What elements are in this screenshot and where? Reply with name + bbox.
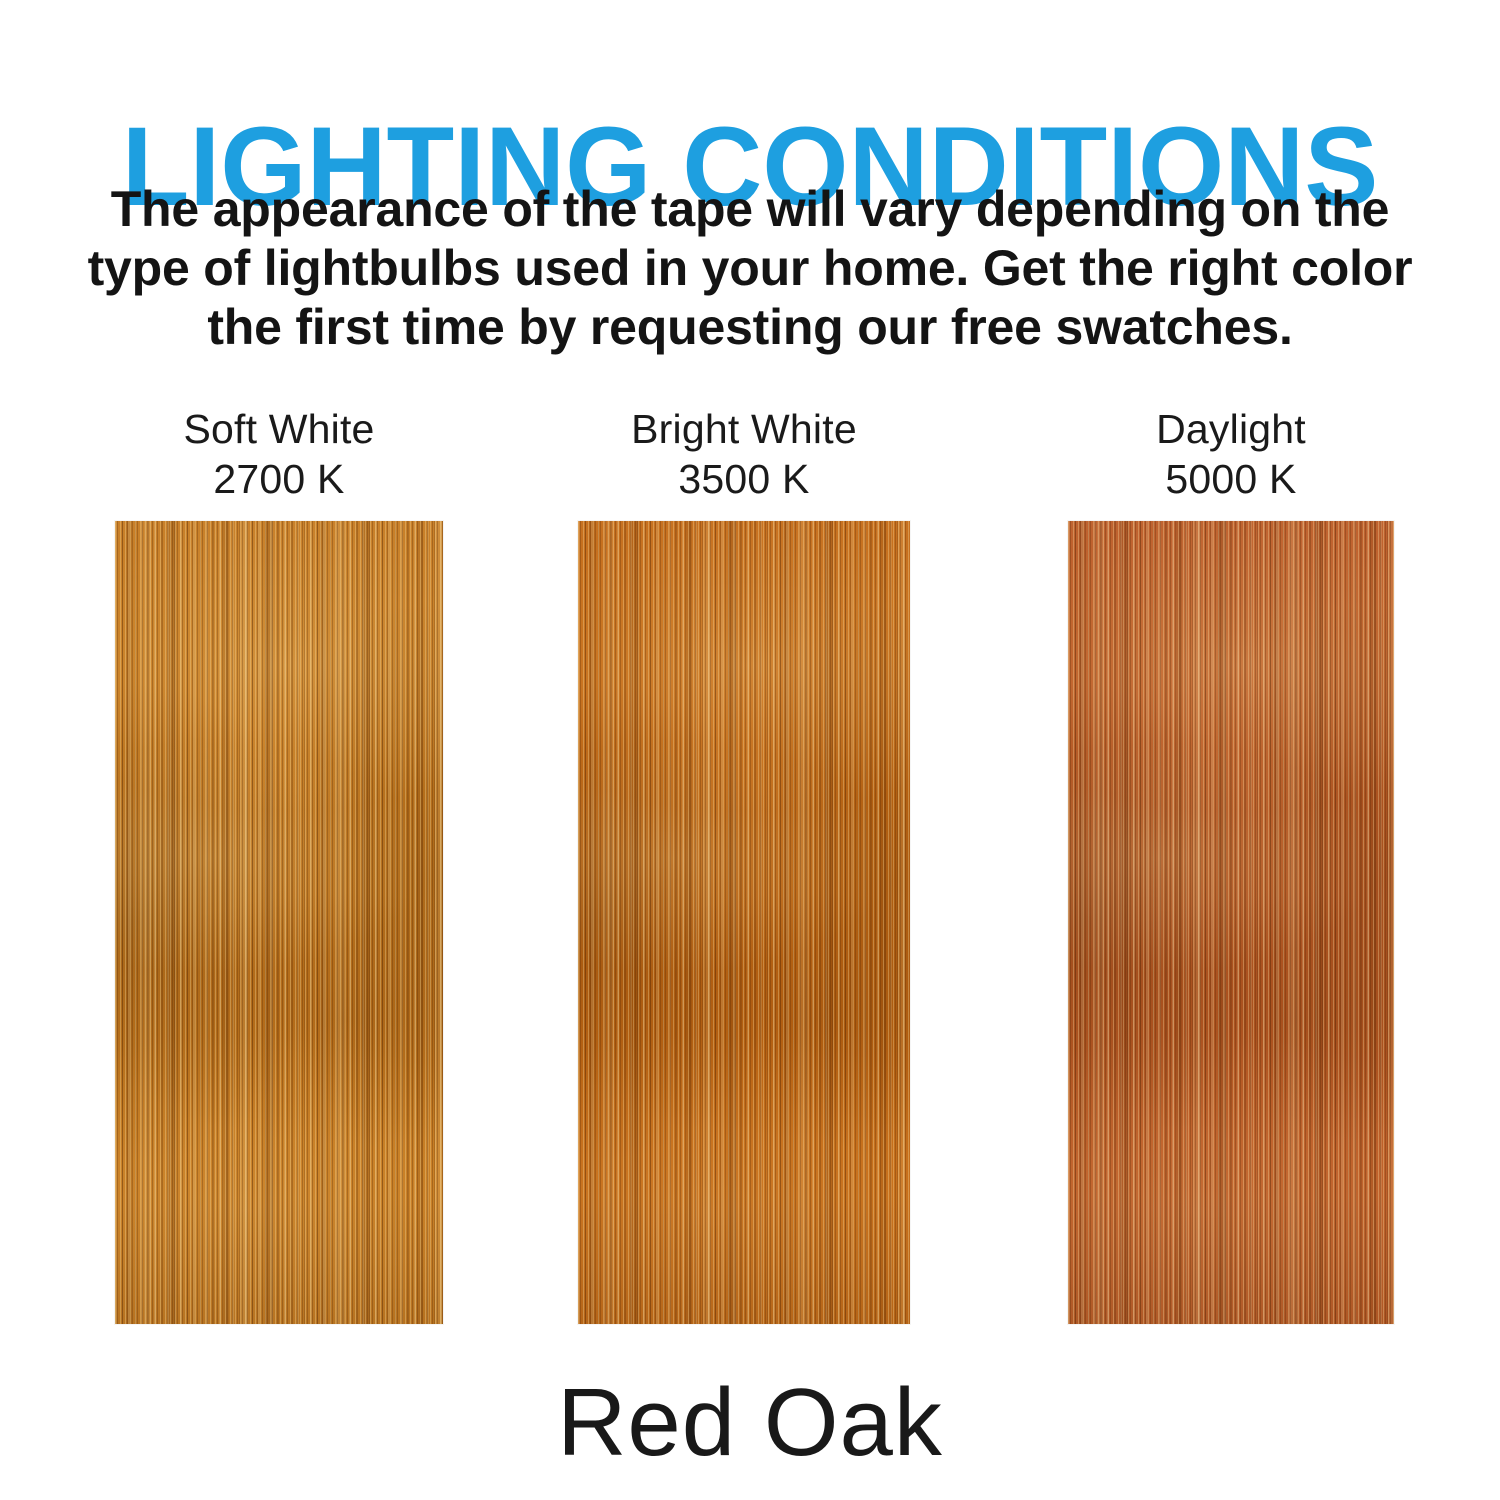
- swatch-label-bright-white: Bright White 3500 K: [578, 404, 910, 504]
- swatch-temperature-soft-white: 2700 K: [115, 454, 443, 504]
- swatch-name-daylight: Daylight: [1156, 406, 1306, 452]
- swatch-label-daylight: Daylight 5000 K: [1068, 404, 1394, 504]
- swatch-name-soft-white: Soft White: [183, 406, 374, 452]
- wood-swatch-daylight: [1068, 521, 1394, 1324]
- swatch-column-daylight: Daylight 5000 K: [1068, 404, 1394, 1324]
- swatch-column-bright-white: Bright White 3500 K: [578, 404, 910, 1324]
- swatch-name-bright-white: Bright White: [631, 406, 857, 452]
- swatch-column-soft-white: Soft White 2700 K: [115, 404, 443, 1324]
- swatch-label-soft-white: Soft White 2700 K: [115, 404, 443, 504]
- wood-swatch-bright-white: [578, 521, 910, 1324]
- wood-grain-fine-icon: [115, 521, 443, 1324]
- swatch-comparison-row: Soft White 2700 K Bright White 3500 K: [0, 0, 1500, 1500]
- swatch-temperature-bright-white: 3500 K: [578, 454, 910, 504]
- lighting-conditions-infographic: LIGHTING CONDITIONS The appearance of th…: [0, 0, 1500, 1500]
- swatch-temperature-daylight: 5000 K: [1068, 454, 1394, 504]
- product-name-caption: Red Oak: [0, 1368, 1500, 1478]
- wood-grain-fine-icon: [1068, 521, 1394, 1324]
- wood-grain-fine-icon: [578, 521, 910, 1324]
- wood-swatch-soft-white: [115, 521, 443, 1324]
